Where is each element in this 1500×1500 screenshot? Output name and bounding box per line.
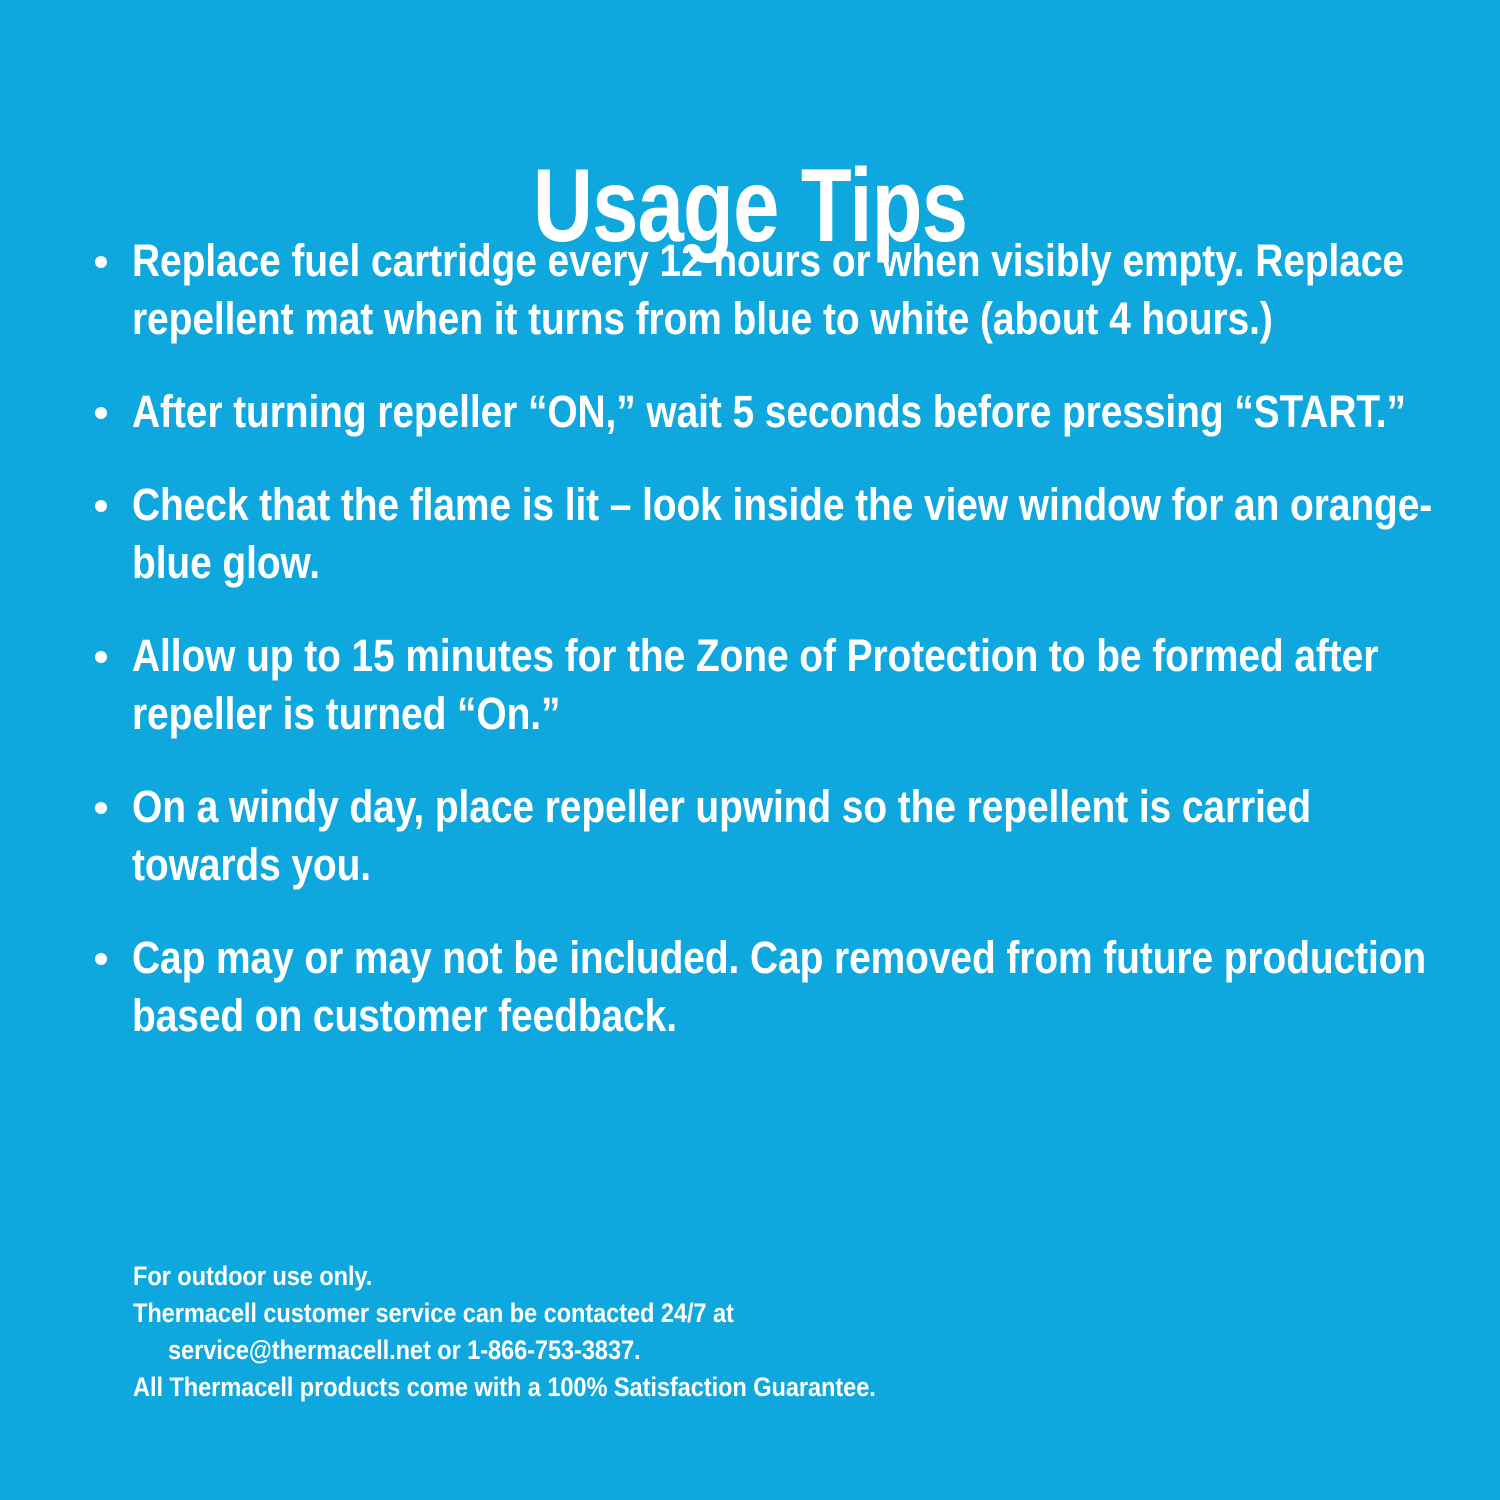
list-item: Cap may or may not be included. Cap remo…	[88, 929, 1433, 1045]
list-item-text: On a windy day, place repeller upwind so…	[132, 778, 1433, 894]
bullet-dot-icon	[95, 802, 107, 814]
list-item: Check that the flame is lit – look insid…	[88, 476, 1433, 592]
list-item: After turning repeller “ON,” wait 5 seco…	[88, 383, 1433, 441]
list-item-text: After turning repeller “ON,” wait 5 seco…	[132, 383, 1433, 441]
footer-line-customer-service: Thermacell customer service can be conta…	[133, 1295, 1332, 1332]
list-item: On a windy day, place repeller upwind so…	[88, 778, 1433, 894]
bullet-dot-icon	[95, 256, 107, 268]
list-item-text: Allow up to 15 minutes for the Zone of P…	[132, 627, 1433, 743]
usage-tips-list: Replace fuel cartridge every 12 hours or…	[88, 232, 1433, 1045]
footer-line-contact: service@thermacell.net or 1-866-753-3837…	[133, 1332, 1367, 1369]
footer-line-outdoor-use: For outdoor use only.	[133, 1258, 1332, 1295]
list-item: Replace fuel cartridge every 12 hours or…	[88, 232, 1433, 348]
bullet-dot-icon	[95, 500, 107, 512]
footer-notice: For outdoor use only. Thermacell custome…	[133, 1258, 1333, 1406]
list-item-text: Replace fuel cartridge every 12 hours or…	[132, 232, 1433, 348]
bullet-dot-icon	[95, 651, 107, 663]
list-item-text: Cap may or may not be included. Cap remo…	[132, 929, 1433, 1045]
list-item-text: Check that the flame is lit – look insid…	[132, 476, 1433, 592]
footer-line-guarantee: All Thermacell products come with a 100%…	[133, 1369, 1332, 1406]
bullet-dot-icon	[95, 953, 107, 965]
list-item: Allow up to 15 minutes for the Zone of P…	[88, 627, 1433, 743]
bullet-dot-icon	[95, 407, 107, 419]
usage-tips-card: Usage Tips Replace fuel cartridge every …	[0, 0, 1500, 1500]
